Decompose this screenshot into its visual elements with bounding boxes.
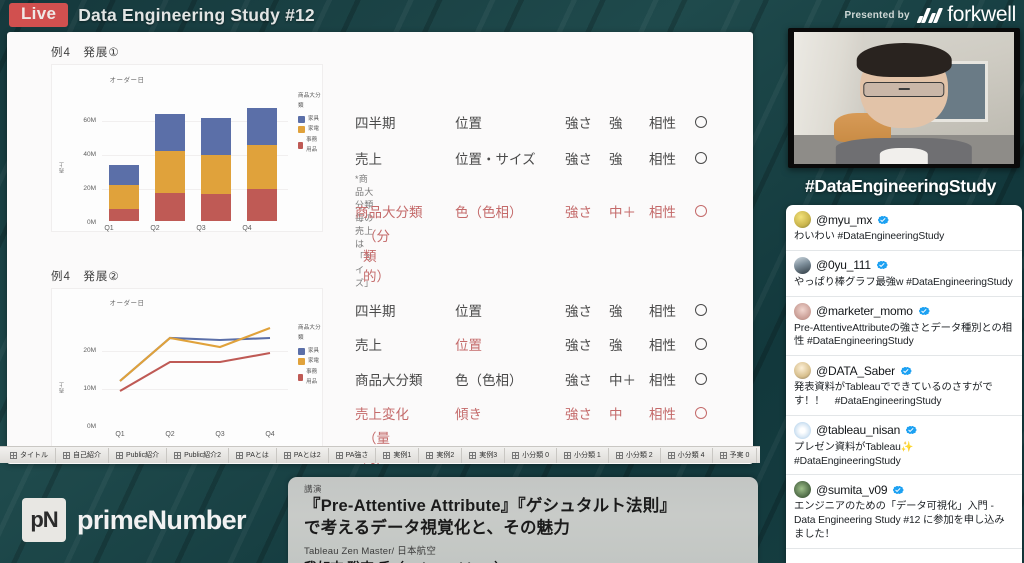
avatar: [794, 257, 811, 274]
thumbnail-label: 小分類 4: [678, 450, 705, 460]
bar-segment-kaden: [155, 151, 185, 193]
grid-icon: [336, 452, 343, 459]
legend-swatch: [298, 116, 305, 123]
event-hashtag: #DataEngineeringStudy: [777, 176, 1024, 197]
line-xtick-q4: Q4: [256, 431, 284, 438]
speaker-name: 我如古 聡志 氏（@ritz_Tableau）: [304, 557, 744, 563]
row-affinity-label: 相性: [649, 300, 695, 320]
presented-by-label: Presented by: [845, 10, 910, 21]
tweet-header: @myu_mx: [794, 211, 1014, 228]
row-strength-value: 強: [609, 300, 649, 320]
tweet-handle[interactable]: @DATA_Saber: [816, 364, 895, 378]
row-strength-label: 強さ: [565, 201, 609, 221]
row-strength-label: 強さ: [565, 112, 609, 132]
tweet-item[interactable]: @tableau_nisan プレゼン資料がTableau✨ #DataEngi…: [786, 416, 1022, 476]
legend-item: 家電: [298, 124, 322, 134]
legend-item: 家具: [298, 114, 322, 124]
bar-segment-jimu: [155, 193, 185, 221]
tweet-header: @marketer_momo: [794, 303, 1014, 320]
thumbnail-tab[interactable]: 小分類 0: [505, 448, 557, 463]
tweet-text: エンジニアのための「データ可視化」入門 - Data Engineering S…: [794, 500, 1014, 541]
tweet-text: わいわい #DataEngineeringStudy: [794, 230, 1014, 244]
row-field: 四半期: [355, 300, 455, 320]
table-row: 四半期 位置 強さ 強 相性: [355, 300, 715, 320]
bar-xtick-q3: Q3: [187, 225, 215, 232]
row-strength-value: 強: [609, 112, 649, 132]
legend-label: 事務用品: [306, 367, 322, 388]
bar-segment-jimu: [247, 189, 277, 221]
panel2-heading: 例4 発展②: [51, 268, 120, 284]
row-affinity-mark: [695, 205, 715, 220]
bar-group-q2: [155, 114, 185, 221]
tweet-handle[interactable]: @myu_mx: [816, 213, 872, 227]
row-affinity-mark: [695, 304, 715, 319]
avatar: [794, 211, 811, 228]
grid-icon: [383, 452, 390, 459]
avatar: [794, 422, 811, 439]
line-ytick-20m: 20M: [70, 347, 96, 354]
bar-chart-title: オーダー日: [7, 74, 262, 84]
tweet-header: @tableau_nisan: [794, 422, 1014, 439]
tweet-text: プレゼン資料がTableau✨ #DataEngineeringStudy: [794, 441, 1014, 469]
table-row: 商品大分類 色（色相） 強さ 中＋ 相性: [355, 369, 715, 389]
bar-segment-kagu: [247, 108, 277, 145]
row-affinity-mark: [695, 152, 715, 167]
thumbnail-tab[interactable]: Public紹介2: [167, 448, 229, 463]
thumbnail-label: 小分類 2: [626, 450, 653, 460]
line-series-kaden: [120, 328, 270, 381]
talk-title-line1: 『Pre-Attentive Attribute』『ゲシュタルト法則』: [304, 496, 744, 517]
line-xtick-q1: Q1: [106, 431, 134, 438]
row-field: 売上: [355, 148, 455, 168]
thumbnail-label: 小分類 1: [574, 450, 601, 460]
thumbnail-tab[interactable]: 予実 1: [757, 448, 760, 463]
slide-panel-2: 例4 発展② オーダー日 20M 10M 0M 売上 Q1 Q2 Q3: [7, 254, 753, 464]
bar-segment-kaden: [247, 145, 277, 189]
table-row: 売上 位置・サイズ 強さ 強 相性: [355, 148, 715, 168]
webcam-frame: [794, 32, 1014, 164]
row-strength-value: 中＋: [609, 201, 649, 221]
grid-icon: [564, 452, 571, 459]
legend-item: 事務用品: [298, 135, 322, 156]
thumbnail-tab[interactable]: PA強さ: [329, 448, 377, 463]
thumbnail-tab[interactable]: PAとは: [229, 448, 277, 463]
table-row: 売上変化 傾き 強さ 中 相性: [355, 403, 715, 423]
row-channel: 位置・サイズ: [455, 148, 565, 168]
legend-title: 商品大分類: [298, 91, 322, 112]
line-chart-legend: 商品大分類 家具 家電 事務用品: [298, 323, 322, 388]
row-channel: 色（色相）: [455, 201, 565, 221]
avatar: [794, 303, 811, 320]
thumbnail-tab[interactable]: 実例3: [462, 448, 505, 463]
speaker-affiliation: Tableau Zen Master/ 日本航空: [304, 543, 744, 557]
bar-group-q3: [201, 118, 231, 221]
sponsor-block: Presented by forkwell: [845, 3, 1017, 27]
row-affinity-mark: [695, 407, 715, 422]
grid-icon: [284, 452, 291, 459]
row-field: 売上変化: [355, 403, 455, 423]
bar-segment-kagu: [109, 165, 139, 185]
thumbnail-tab[interactable]: 自己紹介: [56, 448, 109, 463]
bar-ytick-20m: 20M: [70, 185, 96, 192]
legend-title: 商品大分類: [298, 323, 322, 344]
grid-icon: [63, 452, 70, 459]
row-affinity-mark: [695, 116, 715, 131]
speaker-hair: [857, 43, 952, 77]
bar-group-q1: [109, 165, 139, 221]
bar-xtick-q1: Q1: [95, 225, 123, 232]
row-channel: 位置: [455, 112, 565, 132]
tweet-feed[interactable]: @myu_mx わいわい #DataEngineeringStudy @0yu_…: [786, 205, 1022, 563]
row-affinity-label: 相性: [649, 403, 695, 423]
grid-icon: [469, 452, 476, 459]
tweet-item[interactable]: @myu_mx わいわい #DataEngineeringStudy: [786, 205, 1022, 251]
row-strength-value: 強: [609, 334, 649, 354]
live-badge: Live: [9, 3, 68, 27]
speaker-shirt: [880, 148, 928, 164]
verified-badge-icon: [900, 365, 912, 377]
tweet-header: @DATA_Saber: [794, 362, 1014, 379]
table-row: 商品大分類 色（色相） 強さ 中＋ 相性: [355, 201, 715, 221]
grid-icon: [174, 452, 181, 459]
bar-segment-kaden: [201, 155, 231, 194]
legend-label: 家具: [308, 346, 319, 356]
legend-swatch: [298, 126, 305, 133]
verified-badge-icon: [877, 214, 889, 226]
legend-label: 事務用品: [306, 135, 322, 156]
row-strength-label: 強さ: [565, 334, 609, 354]
tweet-header: @sumita_v09: [794, 481, 1014, 498]
stream-header: Live Data Engineering Study #12: [0, 0, 775, 30]
grid-icon: [720, 452, 727, 459]
row-strength-label: 強さ: [565, 369, 609, 389]
tweet-header: @0yu_111: [794, 257, 1014, 274]
row-field: 売上: [355, 334, 455, 354]
line-plot-area: [102, 309, 292, 431]
pn-wordmark: primeNumber: [77, 505, 246, 536]
presentation-slide[interactable]: 例4 発展① オーダー日 60M 40M 20M 0M 売上: [7, 32, 753, 464]
legend-swatch: [298, 374, 303, 381]
line-series-jimu: [120, 353, 270, 391]
line-chart-title: オーダー日: [7, 297, 262, 307]
thumbnail-tab[interactable]: 実例1: [376, 448, 419, 463]
thumbnail-label: Public紹介: [126, 450, 159, 460]
thumbnail-label: 予実 0: [730, 450, 750, 460]
thumbnail-label: 自己紹介: [73, 450, 101, 460]
legend-swatch: [298, 358, 305, 365]
row-affinity-label: 相性: [649, 334, 695, 354]
table-row: 売上 位置 強さ 強 相性: [355, 334, 715, 354]
line-xtick-q3: Q3: [206, 431, 234, 438]
stream-title: Data Engineering Study #12: [78, 5, 315, 26]
slide-panel-1: 例4 発展① オーダー日 60M 40M 20M 0M 売上: [7, 32, 753, 254]
bar-segment-kagu: [155, 114, 185, 151]
bar-segment-jimu: [109, 209, 139, 221]
bar-xtick-q2: Q2: [141, 225, 169, 232]
row-affinity-mark: [695, 373, 715, 388]
row-channel: 位置: [455, 300, 565, 320]
legend-label: 家具: [308, 114, 319, 124]
row-affinity-label: 相性: [649, 112, 695, 132]
thumbnail-tab[interactable]: 実例2: [419, 448, 462, 463]
row-affinity-label: 相性: [649, 369, 695, 389]
grid-icon: [668, 452, 675, 459]
grid-icon: [616, 452, 623, 459]
bar-xtick-q4: Q4: [233, 225, 261, 232]
row-strength-label: 強さ: [565, 403, 609, 423]
legend-item: 家具: [298, 346, 322, 356]
row-channel: 色（色相）: [455, 369, 565, 389]
bar-segment-kaden: [109, 185, 139, 209]
thumbnail-label: タイトル: [20, 450, 48, 460]
thumbnail-label: Public紹介2: [184, 450, 221, 460]
row-strength-label: 強さ: [565, 300, 609, 320]
bar-segment-jimu: [201, 194, 231, 221]
table-row: 四半期 位置 強さ 強 相性: [355, 112, 715, 132]
line-ytick-10m: 10M: [70, 385, 96, 392]
row-strength-value: 中: [609, 403, 649, 423]
tweet-handle[interactable]: @marketer_momo: [816, 304, 913, 318]
right-sidebar: #DataEngineeringStudy @myu_mx わいわい #Data…: [777, 0, 1024, 563]
verified-badge-icon: [876, 259, 888, 271]
bar-segment-kagu: [201, 118, 231, 155]
legend-label: 家電: [308, 124, 319, 134]
thumbnail-tab[interactable]: 予実 0: [713, 448, 758, 463]
panel1-heading: 例4 発展①: [51, 44, 120, 60]
tweet-text: Pre-AttentiveAttributeの強さとデータ種別との相性 #Dat…: [794, 322, 1014, 350]
grid-icon: [512, 452, 519, 459]
avatar: [794, 362, 811, 379]
thumbnail-label: PA強さ: [346, 450, 369, 460]
bar-ytick-60m: 60M: [70, 117, 96, 124]
talk-info-card: 講演 『Pre-Attentive Attribute』『ゲシュタルト法則』 で…: [288, 477, 758, 563]
grid-icon: [236, 452, 243, 459]
forkwell-logo-icon: [918, 8, 940, 23]
tweet-item[interactable]: @marketer_momo Pre-AttentiveAttributeの強さ…: [786, 297, 1022, 357]
slide-thumbnail-strip[interactable]: タイトル 自己紹介 Public紹介 Public紹介2 PAとは PAとは2 …: [0, 446, 760, 463]
legend-swatch: [298, 348, 305, 355]
grid-icon: [426, 452, 433, 459]
verified-badge-icon: [892, 484, 904, 496]
line-xtick-q2: Q2: [156, 431, 184, 438]
bar-chart: オーダー日 60M 40M 20M 0M 売上: [51, 64, 323, 232]
row-strength-label: 強さ: [565, 148, 609, 168]
speaker-webcam-video[interactable]: [788, 28, 1020, 168]
thumbnail-label: 小分類 0: [522, 450, 549, 460]
thumbnail-tab[interactable]: 小分類 2: [609, 448, 661, 463]
legend-item: 事務用品: [298, 367, 322, 388]
legend-item: 家電: [298, 356, 322, 366]
pn-mark-icon: pN: [22, 498, 66, 542]
bar-ytick-40m: 40M: [70, 151, 96, 158]
row-strength-value: 中＋: [609, 369, 649, 389]
verified-badge-icon: [905, 424, 917, 436]
tweet-item[interactable]: @DATA_Saber 発表資料がTableauでできているのさすがです！！ #…: [786, 356, 1022, 416]
tweet-handle[interactable]: @0yu_111: [816, 258, 871, 272]
tweet-item[interactable]: @sumita_v09 エンジニアのための「データ可視化」入門 - Data E…: [786, 475, 1022, 548]
verified-badge-icon: [918, 305, 930, 317]
thumbnail-tab[interactable]: PAとは2: [277, 448, 329, 463]
row-affinity-mark: [695, 338, 715, 353]
thumbnail-tab[interactable]: 小分類 4: [661, 448, 713, 463]
grid-icon: [116, 452, 123, 459]
talk-title-line2: で考えるデータ視覚化と、その魅力: [304, 518, 744, 539]
thumbnail-label: PAとは: [246, 450, 269, 460]
row-channel: 傾き: [455, 403, 565, 423]
thumbnail-tab[interactable]: 小分類 1: [557, 448, 609, 463]
row-channel: 位置: [455, 334, 565, 354]
bar-yaxis-label: 売上: [58, 143, 65, 173]
talk-kicker: 講演: [304, 483, 744, 495]
tweet-item[interactable]: @0yu_111 やっぱり棒グラフ最強w #DataEngineeringStu…: [786, 251, 1022, 297]
avatar: [794, 481, 811, 498]
tweet-handle[interactable]: @tableau_nisan: [816, 423, 900, 437]
thumbnail-label: 実例2: [436, 450, 454, 460]
thumbnail-tab[interactable]: タイトル: [3, 448, 56, 463]
row-field: 四半期: [355, 112, 455, 132]
speaker-glasses: [863, 82, 944, 97]
row-strength-value: 強: [609, 148, 649, 168]
line-ytick-0m: 0M: [70, 423, 96, 430]
grid-icon: [10, 452, 17, 459]
bar-ytick-0m: 0M: [70, 219, 96, 226]
primenumber-logo: pN primeNumber: [22, 498, 246, 542]
tweet-text: やっぱり棒グラフ最強w #DataEngineeringStudy: [794, 276, 1014, 290]
bar-plot-area: [107, 91, 283, 221]
thumbnail-label: 実例3: [479, 450, 497, 460]
row-field: 商品大分類: [355, 369, 455, 389]
thumbnail-tab[interactable]: Public紹介: [109, 448, 167, 463]
legend-swatch: [298, 142, 303, 149]
legend-label: 家電: [308, 356, 319, 366]
thumbnail-label: 実例1: [393, 450, 411, 460]
row-affinity-label: 相性: [649, 201, 695, 221]
tweet-text: 発表資料がTableauでできているのさすがです！！ #DataEngineer…: [794, 381, 1014, 409]
line-yaxis-label: 売上: [58, 367, 65, 393]
bar-chart-legend: 商品大分類 家具 家電 事務用品: [298, 91, 322, 156]
line-chart: オーダー日 20M 10M 0M 売上 Q1 Q2 Q3 Q4: [51, 288, 323, 448]
sponsor-name: forkwell: [947, 3, 1016, 27]
thumbnail-label: PAとは2: [294, 450, 321, 460]
line-series-kagu: [120, 338, 270, 381]
bar-group-q4: [247, 108, 277, 221]
row-field: 商品大分類: [355, 201, 455, 221]
row-affinity-label: 相性: [649, 148, 695, 168]
tweet-handle[interactable]: @sumita_v09: [816, 483, 887, 497]
